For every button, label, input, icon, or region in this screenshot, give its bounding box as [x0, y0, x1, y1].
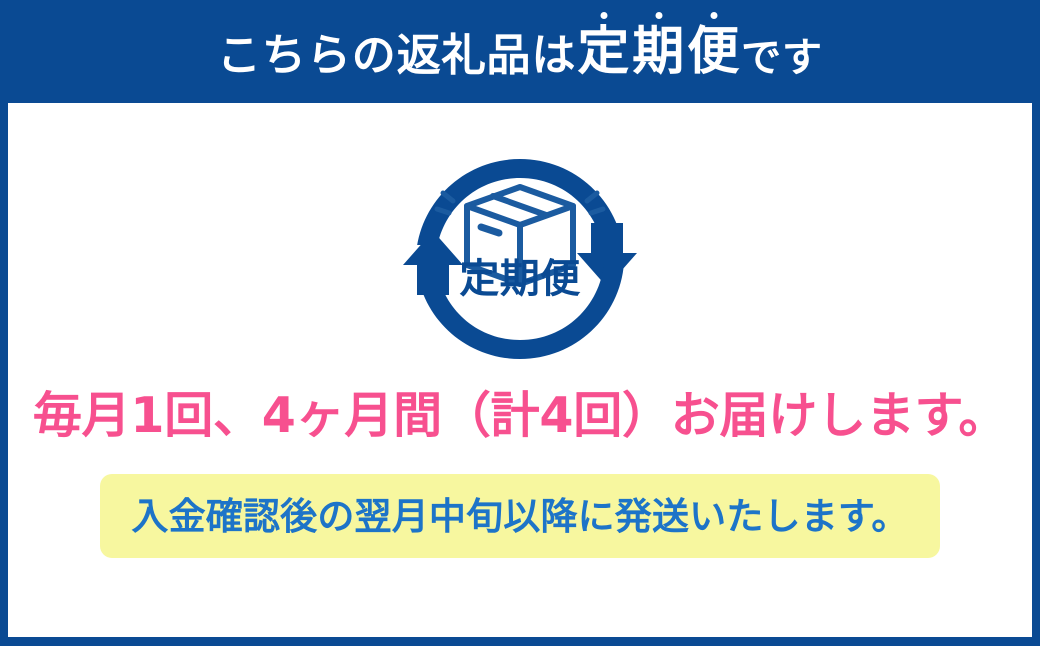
emphasis-char-3: 便 — [686, 26, 741, 78]
recurring-delivery-icon: 定期便 — [395, 153, 645, 365]
header-title-suffix: です — [741, 38, 823, 78]
emphasis-char-1: 定 — [576, 26, 631, 78]
header-title-emphasis: 定期便 — [576, 26, 741, 78]
page-title: こちらの返礼品は定期便です — [217, 26, 823, 78]
shipping-note-text: 入金確認後の翌月中旬以降に発送いたします。 — [131, 498, 908, 535]
schedule-text: 毎月1回、4ヶ月間（計4回）お届けします。 — [8, 391, 1032, 440]
icon-label: 定期便 — [395, 259, 645, 299]
shipping-note-box: 入金確認後の翌月中旬以降に発送いたします。 — [100, 474, 940, 558]
header-band: こちらの返礼品は定期便です — [0, 0, 1040, 103]
header-title-prefix: こちらの返礼品は — [217, 34, 576, 78]
emphasis-char-2: 期 — [631, 26, 686, 78]
banner-body: 定期便 毎月1回、4ヶ月間（計4回）お届けします。 入金確認後の翌月中旬以降に発… — [8, 103, 1032, 637]
teikibin-banner: こちらの返礼品は定期便です — [0, 0, 1040, 646]
